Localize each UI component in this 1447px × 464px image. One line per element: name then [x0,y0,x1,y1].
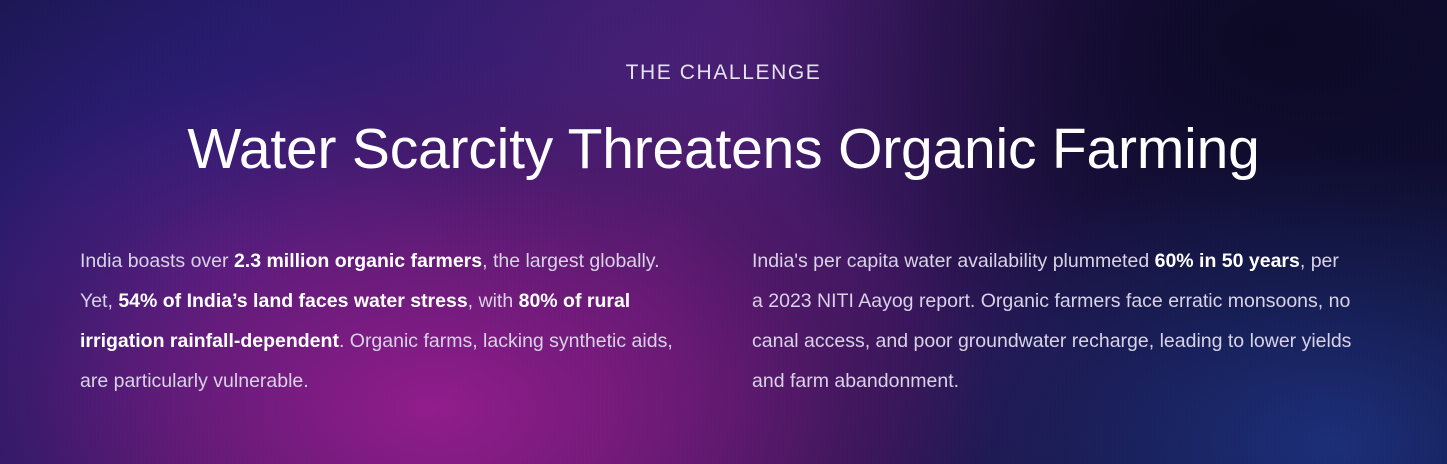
body-text: , with [468,290,519,312]
page-title: Water Scarcity Threatens Organic Farming [0,118,1447,182]
emphasis-text: 2.3 million organic farmers [234,250,482,272]
body-text: India boasts over [80,250,234,272]
body-paragraph-right: India's per capita water availability pl… [752,241,1352,401]
challenge-section: THE CHALLENGE Water Scarcity Threatens O… [0,0,1447,464]
body-columns: India boasts over 2.3 million organic fa… [80,241,1367,401]
emphasis-text: 54% of India’s land faces water stress [118,290,467,312]
section-content: THE CHALLENGE Water Scarcity Threatens O… [0,0,1447,464]
section-eyebrow: THE CHALLENGE [0,62,1447,83]
body-paragraph-left: India boasts over 2.3 million organic fa… [80,241,692,401]
emphasis-text: 60% in 50 years [1155,250,1300,272]
body-text: India's per capita water availability pl… [752,250,1155,272]
